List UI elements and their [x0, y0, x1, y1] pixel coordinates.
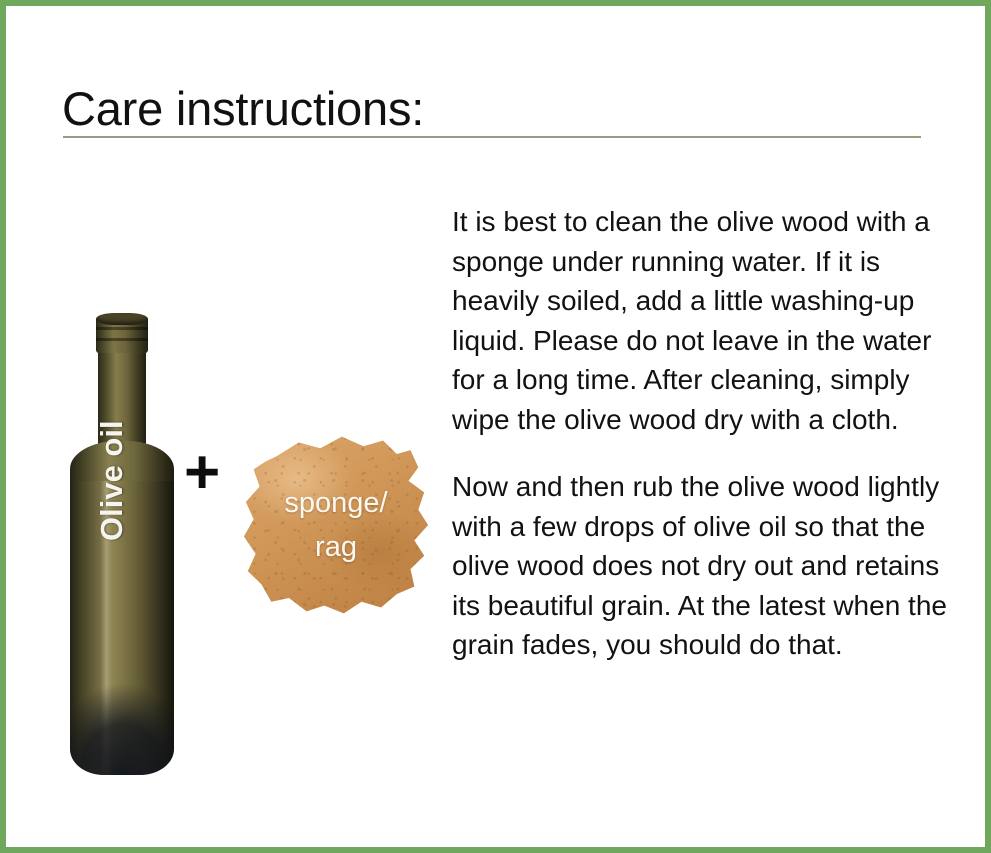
sponge-caption-line-2: rag — [238, 525, 434, 569]
title-divider — [63, 136, 921, 138]
plus-icon: + — [184, 442, 220, 504]
bottle-base-shading — [70, 683, 174, 775]
illustration-group: Olive oil + sponge/ rag — [6, 296, 441, 806]
sponge-caption-line-1: sponge/ — [238, 481, 434, 525]
bottle-label-text: Olive oil — [94, 437, 130, 541]
page-title: Care instructions: — [62, 81, 424, 137]
sponge-caption: sponge/ rag — [238, 481, 434, 569]
bottle-mouth — [96, 313, 148, 325]
sponge-rag-image: sponge/ rag — [238, 429, 434, 621]
care-instructions-text: It is best to clean the olive wood with … — [452, 202, 954, 665]
instructions-paragraph: Now and then rub the olive wood lightly … — [452, 467, 954, 665]
olive-oil-bottle-image: Olive oil — [68, 313, 176, 775]
care-instructions-slide: Care instructions: Olive oil + sponge/ r… — [0, 0, 991, 853]
instructions-paragraph: It is best to clean the olive wood with … — [452, 202, 954, 439]
